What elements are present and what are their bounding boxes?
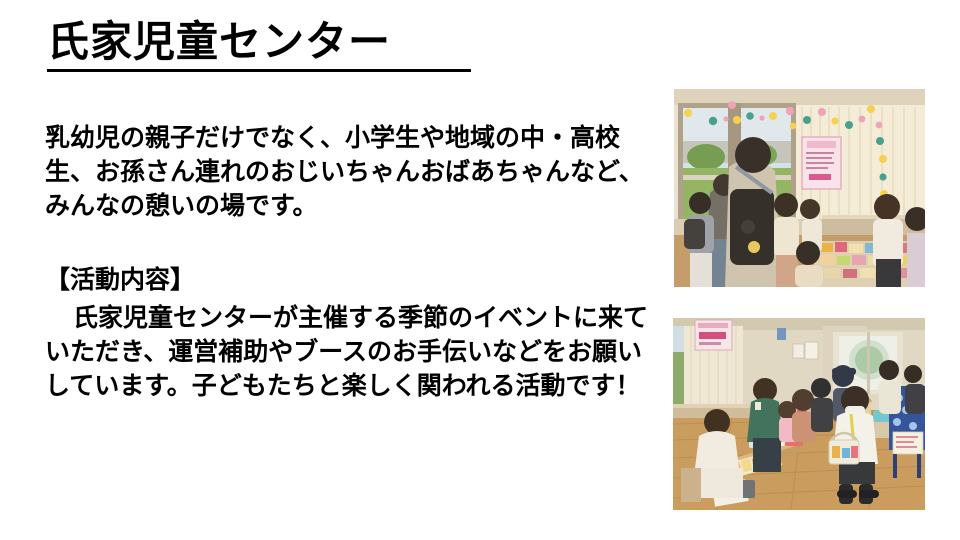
activity-section: 【活動内容】 氏家児童センターが主催する季節のイベントに来ていただき、運営補助や… [45, 263, 655, 403]
page-title: 氏家児童センター [47, 18, 391, 66]
activity-body: 氏家児童センターが主催する季節のイベントに来ていただき、運営補助やブースのお手伝… [45, 301, 655, 403]
photo-bottom-artwork [673, 318, 925, 510]
activity-heading: 【活動内容】 [45, 263, 655, 297]
volunteer-booth-photo [673, 318, 925, 510]
photo-top-artwork [674, 89, 925, 287]
title-underline [47, 69, 471, 72]
childrens-center-room-photo [674, 89, 925, 287]
intro-paragraph: 乳幼児の親子だけでなく、小学生や地域の中・高校生、お孫さん連れのおじいちゃんおば… [45, 121, 655, 223]
